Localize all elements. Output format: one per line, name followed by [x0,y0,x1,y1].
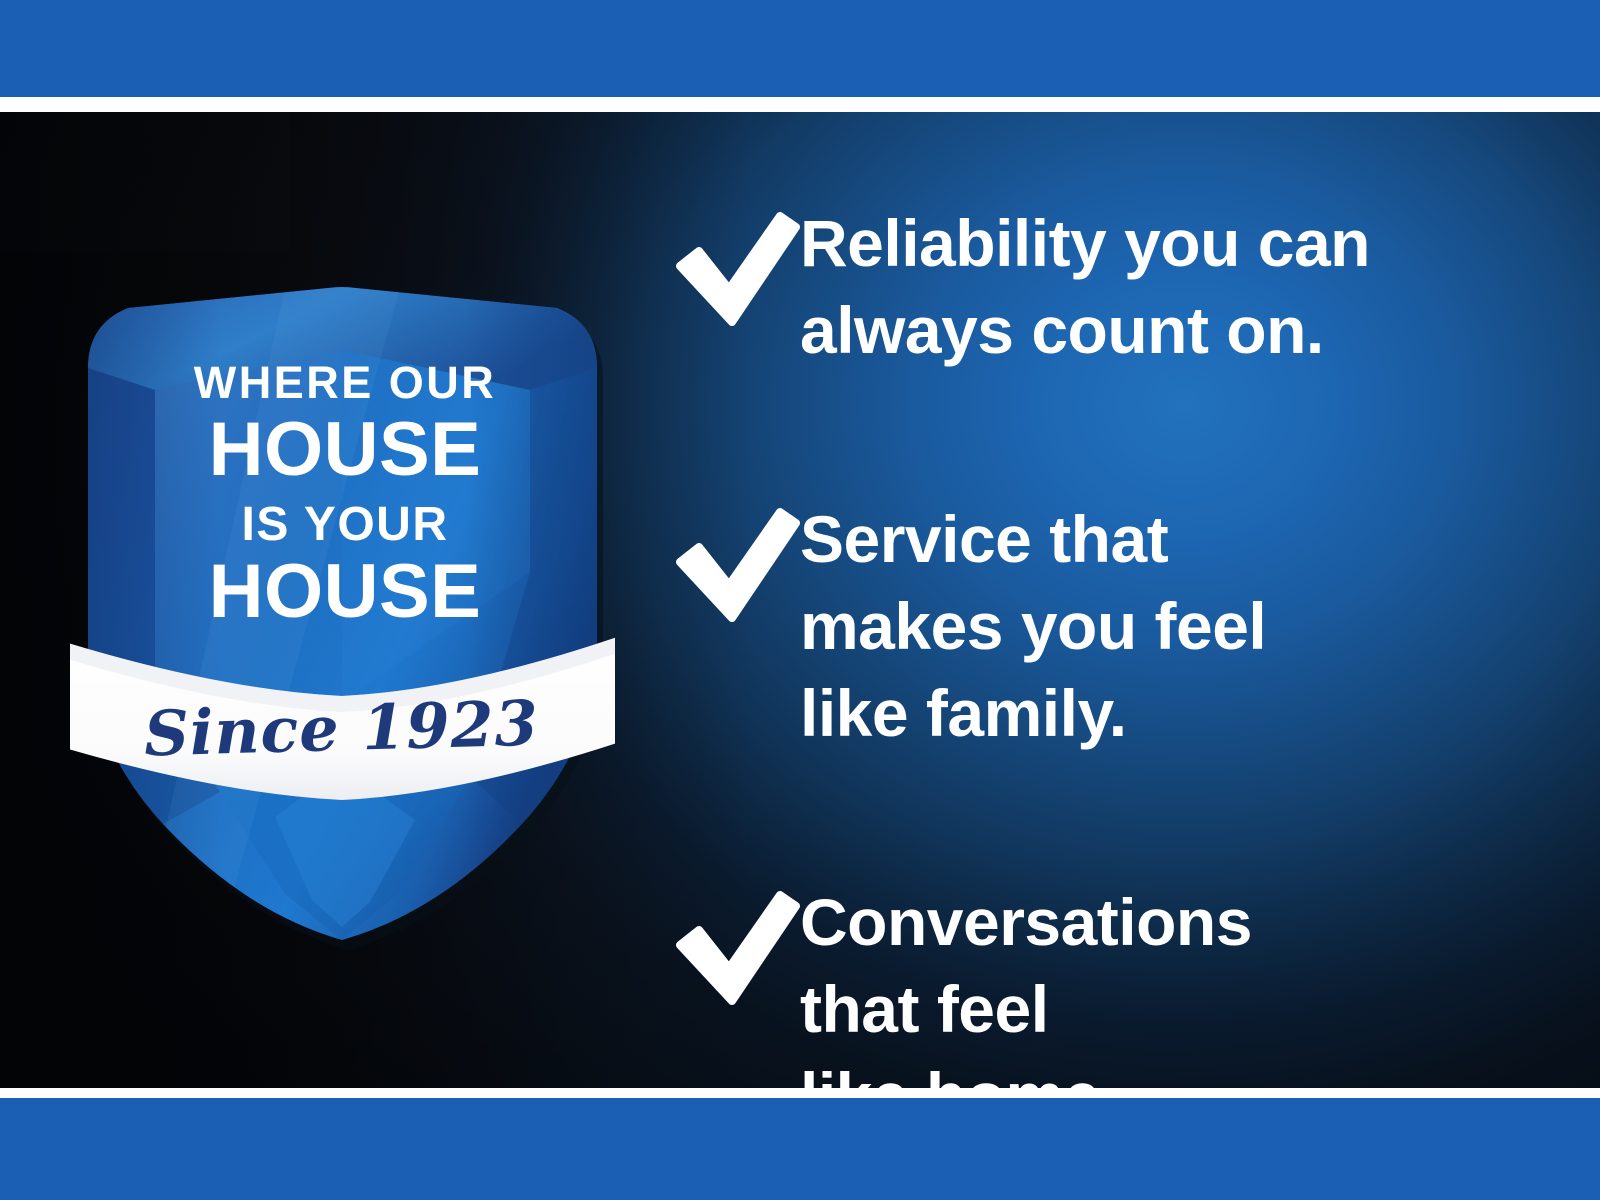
check-icon [668,210,800,328]
check-icon [668,506,800,624]
shield-line-4: HOUSE [209,549,482,634]
panel-noise-texture [0,112,290,252]
shield-line-1: WHERE OUR [194,357,497,408]
shield-line-2: HOUSE [209,407,482,492]
list-item: Reliability you can always count on. [668,196,1528,374]
check-icon [668,889,800,1007]
benefits-list: Reliability you can always count on. Ser… [668,196,1528,1140]
promo-graphic: WHERE OUR HOUSE IS YOUR HOUSE Since 1923… [0,0,1600,1200]
top-brand-bar [0,0,1600,97]
list-item: Service that makes you feel like family. [668,492,1528,757]
shield-line-3: IS YOUR [242,498,449,551]
bottom-brand-bar [0,1098,1600,1200]
shield-banner-text: Since 1923 [143,687,540,771]
list-item-text: Service that makes you feel like family. [800,492,1528,757]
shield-logo: WHERE OUR HOUSE IS YOUR HOUSE Since 1923 [70,272,615,952]
list-item-text: Reliability you can always count on. [800,196,1528,374]
